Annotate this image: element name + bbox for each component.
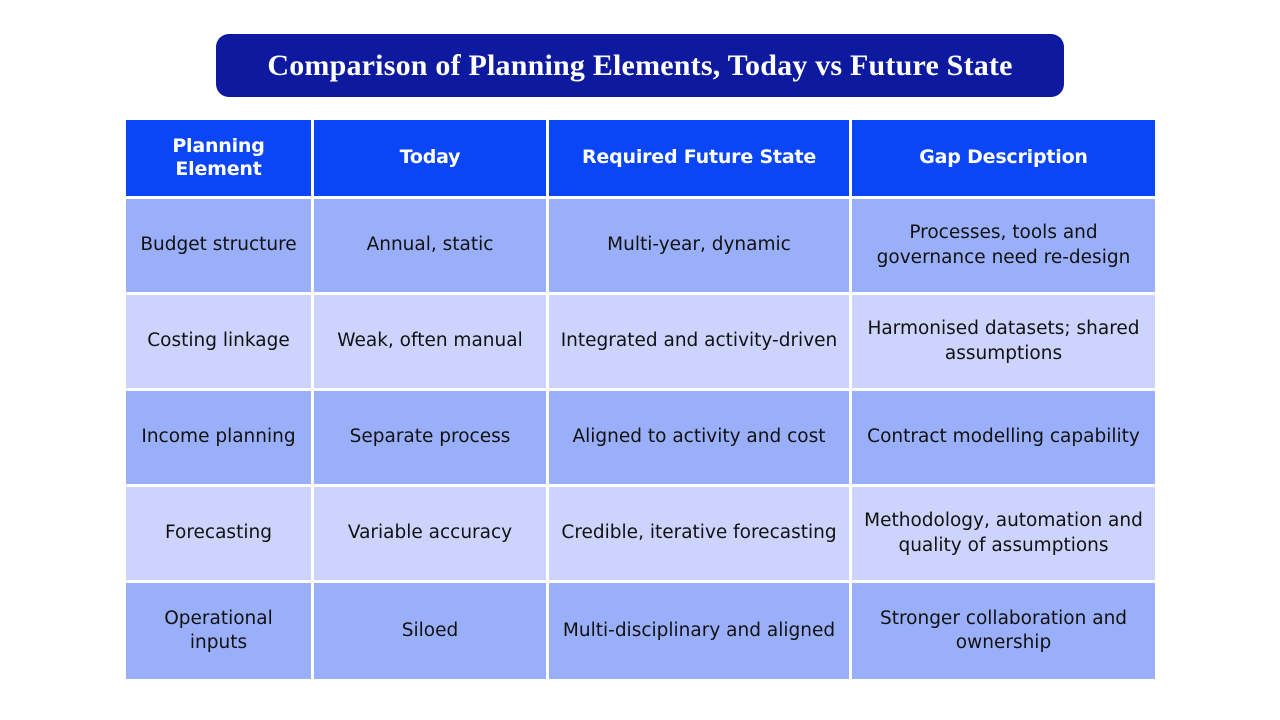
table-header: Planning Element Today Required Future S… xyxy=(126,120,1155,199)
cell-required-future-state: Aligned to activity and cost xyxy=(549,391,852,487)
column-header-planning-element-line2: Element xyxy=(175,158,261,180)
cell-gap-description: Methodology, automation and quality of a… xyxy=(852,487,1155,583)
table-row: Costing linkage Weak, often manual Integ… xyxy=(126,295,1155,391)
column-header-required-future-state: Required Future State xyxy=(549,120,852,199)
cell-required-future-state: Credible, iterative forecasting xyxy=(549,487,852,583)
cell-gap-description: Harmonised datasets; shared assumptions xyxy=(852,295,1155,391)
table-header-row: Planning Element Today Required Future S… xyxy=(126,120,1155,199)
cell-planning-element: Operational inputs xyxy=(126,583,314,679)
table-row: Operational inputs Siloed Multi-discipli… xyxy=(126,583,1155,679)
cell-today: Siloed xyxy=(314,583,549,679)
cell-gap-description: Stronger collaboration and ownership xyxy=(852,583,1155,679)
page-title: Comparison of Planning Elements, Today v… xyxy=(267,51,1012,81)
cell-required-future-state: Integrated and activity-driven xyxy=(549,295,852,391)
cell-gap-description: Processes, tools and governance need re-… xyxy=(852,199,1155,295)
cell-planning-element: Income planning xyxy=(126,391,314,487)
cell-today: Variable accuracy xyxy=(314,487,549,583)
cell-today: Separate process xyxy=(314,391,549,487)
table-row: Income planning Separate process Aligned… xyxy=(126,391,1155,487)
column-header-today: Today xyxy=(314,120,549,199)
cell-today: Weak, often manual xyxy=(314,295,549,391)
title-banner: Comparison of Planning Elements, Today v… xyxy=(216,34,1064,97)
cell-required-future-state: Multi-year, dynamic xyxy=(549,199,852,295)
column-header-planning-element-line1: Planning xyxy=(172,135,264,157)
cell-planning-element: Forecasting xyxy=(126,487,314,583)
cell-required-future-state: Multi-disciplinary and aligned xyxy=(549,583,852,679)
comparison-table: Planning Element Today Required Future S… xyxy=(126,120,1155,679)
table-body: Budget structure Annual, static Multi-ye… xyxy=(126,199,1155,679)
cell-planning-element: Costing linkage xyxy=(126,295,314,391)
column-header-gap-description: Gap Description xyxy=(852,120,1155,199)
table-row: Budget structure Annual, static Multi-ye… xyxy=(126,199,1155,295)
cell-gap-description: Contract modelling capability xyxy=(852,391,1155,487)
cell-today: Annual, static xyxy=(314,199,549,295)
table-row: Forecasting Variable accuracy Credible, … xyxy=(126,487,1155,583)
column-header-planning-element: Planning Element xyxy=(126,120,314,199)
cell-planning-element: Budget structure xyxy=(126,199,314,295)
